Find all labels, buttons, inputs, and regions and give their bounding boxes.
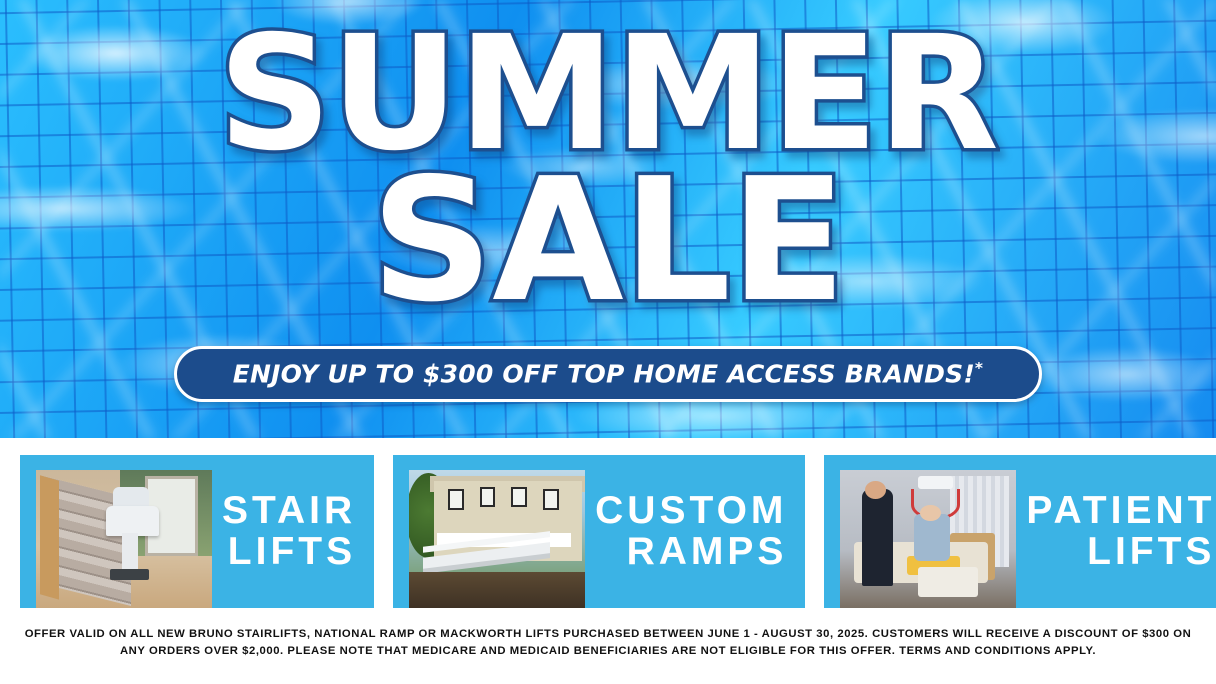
- offer-cta-text: ENJOY UP TO $300 OFF TOP HOME ACCESS BRA…: [233, 359, 975, 388]
- product-card-label-patient-lifts: PATIENT LIFTS: [1016, 491, 1216, 573]
- product-card-stair-lifts[interactable]: STAIR LIFTS: [20, 455, 374, 608]
- card-label-line1: PATIENT: [1026, 489, 1215, 532]
- card-label-line2: LIFTS: [1026, 532, 1215, 573]
- wheelchair-ramp-at-house-photo: [409, 470, 585, 608]
- hero-section: SUMMER SALE ENJOY UP TO $300 OFF TOP HOM…: [0, 0, 1216, 438]
- offer-disclaimer: OFFER VALID ON ALL NEW BRUNO STAIRLIFTS,…: [0, 620, 1216, 660]
- summer-sale-banner: SUMMER SALE ENJOY UP TO $300 OFF TOP HOM…: [0, 0, 1216, 684]
- card-label-line2: LIFTS: [222, 532, 356, 573]
- card-label-line1: CUSTOM: [595, 489, 787, 532]
- caregiver-using-patient-lift-photo: [840, 470, 1016, 608]
- offer-cta-pill[interactable]: ENJOY UP TO $300 OFF TOP HOME ACCESS BRA…: [174, 346, 1042, 402]
- offer-asterisk: *: [975, 359, 983, 377]
- product-card-label-custom-ramps: CUSTOM RAMPS: [585, 491, 805, 573]
- product-card-patient-lifts[interactable]: PATIENT LIFTS: [824, 455, 1216, 608]
- headline-sale: SALE: [371, 163, 845, 319]
- stair-lift-on-staircase-photo: [36, 470, 212, 608]
- offer-cta-label: ENJOY UP TO $300 OFF TOP HOME ACCESS BRA…: [233, 359, 983, 388]
- product-card-custom-ramps[interactable]: CUSTOM RAMPS: [393, 455, 805, 608]
- product-card-label-stair-lifts: STAIR LIFTS: [212, 491, 374, 573]
- card-label-line1: STAIR: [222, 489, 356, 532]
- card-label-line2: RAMPS: [595, 532, 787, 573]
- product-card-row: STAIR LIFTS CUSTOM R: [0, 455, 1216, 608]
